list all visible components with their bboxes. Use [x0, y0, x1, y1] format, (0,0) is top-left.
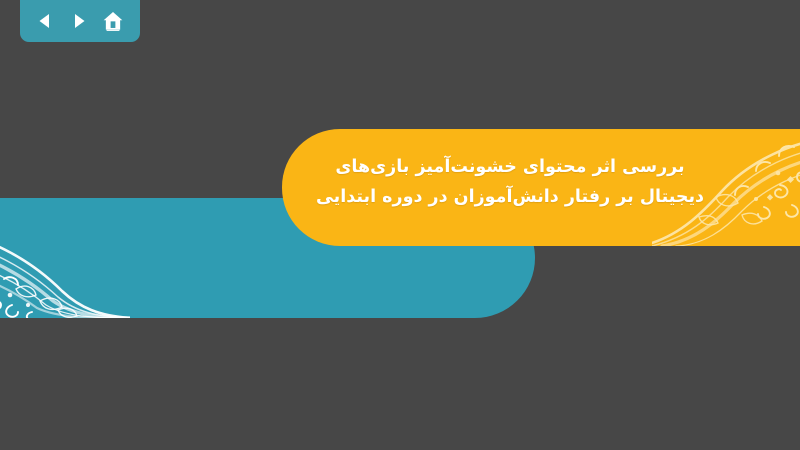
arabesque-ornament-white: [0, 213, 130, 318]
forward-triangle-icon: [69, 11, 89, 31]
title-line-1: بررسی اثر محتوای خشونت‌آمیز بازی‌های: [300, 152, 720, 182]
title-line-2: دیجیتال بر رفتار دانش‌آموزان در دوره ابت…: [300, 182, 720, 212]
navigation-bar: [20, 0, 140, 42]
presentation-slide: بررسی اثر محتوای خشونت‌آمیز بازی‌های دیج…: [0, 0, 800, 450]
forward-button[interactable]: [62, 4, 96, 38]
back-triangle-icon: [35, 11, 55, 31]
home-icon: [102, 10, 124, 32]
home-button[interactable]: [96, 4, 130, 38]
back-button[interactable]: [28, 4, 62, 38]
slide-title: بررسی اثر محتوای خشونت‌آمیز بازی‌های دیج…: [300, 152, 720, 212]
